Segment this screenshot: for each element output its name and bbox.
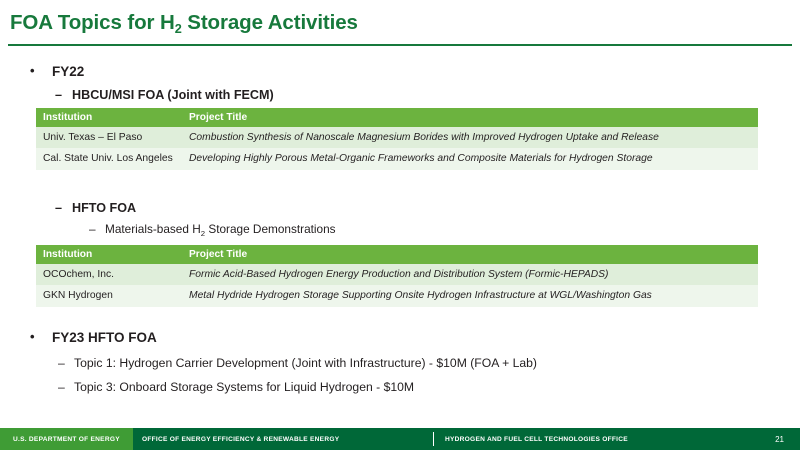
table-row: GKN Hydrogen Metal Hydride Hydrogen Stor… — [36, 285, 758, 306]
fy22-hbcu-label: HBCU/MSI FOA (Joint with FECM) — [72, 88, 274, 102]
cell-institution: Univ. Texas – El Paso — [36, 127, 182, 148]
hfto-foa-subheading: – HFTO FOA — [72, 201, 136, 215]
column-header-institution: Institution — [36, 245, 182, 264]
table-row: OCOchem, Inc. Formic Acid-Based Hydrogen… — [36, 264, 758, 285]
page-title-subscript: 2 — [175, 21, 182, 36]
fy23-heading: • FY23 HFTO FOA — [52, 330, 157, 345]
materials-based-demos-subscript: 2 — [201, 229, 205, 238]
fy22-heading: • FY22 — [52, 64, 84, 79]
fy23-topic-2-text: Topic 3: Onboard Storage Systems for Liq… — [74, 380, 414, 394]
cell-project-title: Developing Highly Porous Metal-Organic F… — [182, 148, 758, 169]
footer-bar: U.S. DEPARTMENT OF ENERGY OFFICE OF ENER… — [0, 428, 800, 450]
page-number: 21 — [775, 435, 784, 444]
slide: FOA Topics for H2 Storage Activities • F… — [0, 0, 800, 450]
fy23-topic-1-text: Topic 1: Hydrogen Carrier Development (J… — [74, 356, 537, 370]
hfto-foa-label: HFTO FOA — [72, 201, 136, 215]
footer-office-label: OFFICE OF ENERGY EFFICIENCY & RENEWABLE … — [142, 436, 339, 443]
cell-institution: OCOchem, Inc. — [36, 264, 182, 285]
column-header-institution: Institution — [36, 108, 182, 127]
page-title-pre: FOA Topics for H — [10, 11, 175, 34]
dash-icon: – — [58, 380, 65, 394]
page-title: FOA Topics for H2 Storage Activities — [10, 11, 358, 35]
footer-department-label: U.S. DEPARTMENT OF ENERGY — [13, 436, 120, 443]
table-header-row: Institution Project Title — [36, 108, 758, 127]
table-row: Cal. State Univ. Los Angeles Developing … — [36, 148, 758, 169]
cell-project-title: Combustion Synthesis of Nanoscale Magnes… — [182, 127, 758, 148]
dash-icon: – — [89, 222, 96, 236]
dash-icon: – — [55, 201, 62, 215]
fy22-hbcu-subheading: – HBCU/MSI FOA (Joint with FECM) — [72, 88, 274, 102]
table-row: Univ. Texas – El Paso Combustion Synthes… — [36, 127, 758, 148]
fy23-topic-1: – Topic 1: Hydrogen Carrier Development … — [74, 356, 537, 370]
column-header-project-title: Project Title — [182, 108, 758, 127]
cell-project-title: Metal Hydride Hydrogen Storage Supportin… — [182, 285, 758, 306]
bullet-icon: • — [30, 329, 35, 344]
materials-based-demos-pre: Materials-based H — [105, 222, 201, 236]
bullet-icon: • — [30, 63, 35, 78]
materials-based-demos-post: Storage Demonstrations — [205, 222, 336, 236]
title-divider — [8, 44, 792, 46]
fy23-label: FY23 HFTO FOA — [52, 330, 157, 345]
table-header-row: Institution Project Title — [36, 245, 758, 264]
hfto-foa-table: Institution Project Title OCOchem, Inc. … — [36, 245, 758, 307]
dash-icon: – — [55, 88, 62, 102]
fy22-label: FY22 — [52, 64, 84, 79]
footer-divider — [433, 432, 434, 446]
footer-program-label: HYDROGEN AND FUEL CELL TECHNOLOGIES OFFI… — [445, 436, 628, 443]
cell-institution: Cal. State Univ. Los Angeles — [36, 148, 182, 169]
cell-project-title: Formic Acid-Based Hydrogen Energy Produc… — [182, 264, 758, 285]
dash-icon: – — [58, 356, 65, 370]
materials-based-demos-item: – Materials-based H2 Storage Demonstrati… — [105, 222, 336, 236]
fy23-topic-2: – Topic 3: Onboard Storage Systems for L… — [74, 380, 414, 394]
cell-institution: GKN Hydrogen — [36, 285, 182, 306]
page-title-post: Storage Activities — [182, 11, 358, 34]
column-header-project-title: Project Title — [182, 245, 758, 264]
hbcu-msi-table: Institution Project Title Univ. Texas – … — [36, 108, 758, 170]
